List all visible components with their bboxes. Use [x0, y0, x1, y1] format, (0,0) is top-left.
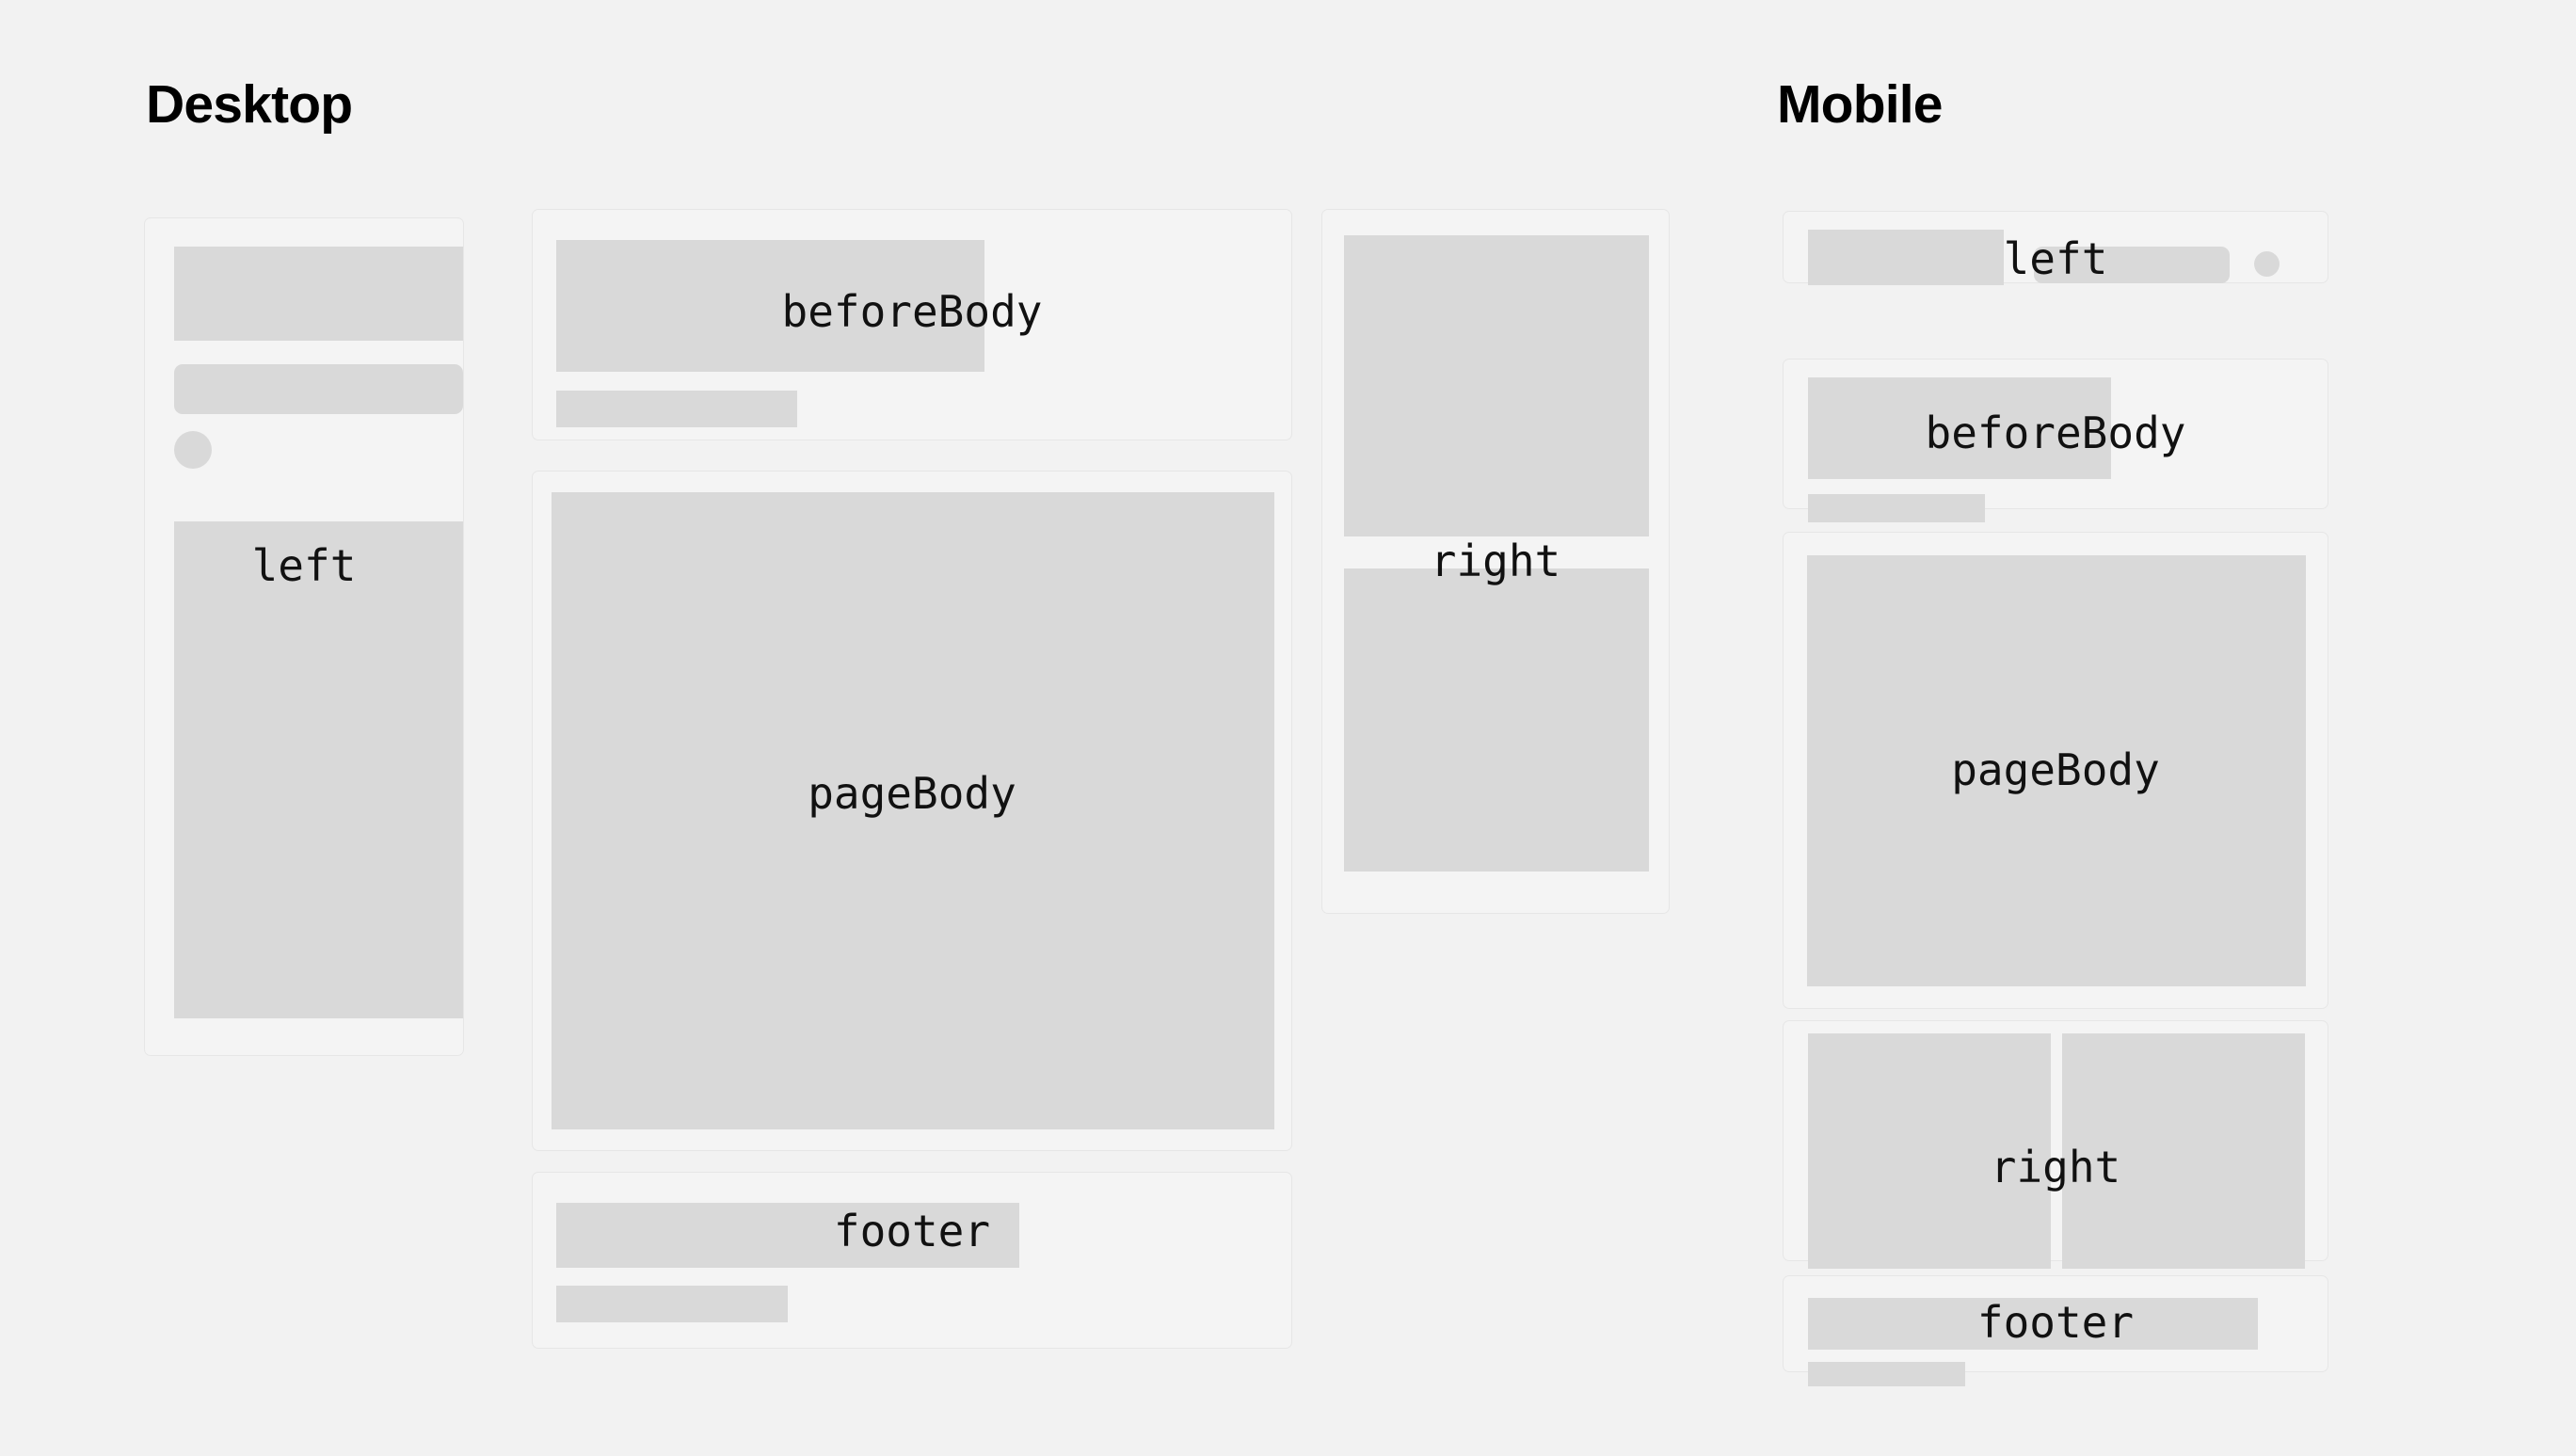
- skeleton-block-small: [1808, 1362, 1965, 1386]
- skeleton-block-bar: [174, 364, 463, 414]
- skeleton-block-tall: [174, 521, 463, 1018]
- skeleton-block-header: [1808, 230, 2004, 285]
- skeleton-circle-avatar: [2254, 251, 2280, 277]
- mobile-left-region-card[interactable]: [1783, 211, 2328, 283]
- mobile-pagebody-region-card[interactable]: [1783, 532, 2328, 1009]
- desktop-beforebody-region-card[interactable]: [532, 209, 1292, 440]
- skeleton-block-small: [1808, 494, 1985, 522]
- skeleton-block-small: [556, 391, 797, 427]
- skeleton-block-content: [552, 492, 1274, 1129]
- mobile-heading: Mobile: [1777, 78, 1943, 132]
- skeleton-block-lower: [1344, 568, 1649, 872]
- skeleton-block-header: [174, 247, 463, 341]
- skeleton-block-small: [556, 1286, 788, 1322]
- desktop-heading: Desktop: [146, 78, 352, 132]
- skeleton-block-left-column: [1808, 1033, 2051, 1269]
- skeleton-block-bar: [2034, 247, 2230, 283]
- layout-preview-canvas: Desktop left beforeBody pageBody footer …: [0, 0, 2576, 1456]
- skeleton-block-large: [556, 1203, 1019, 1268]
- mobile-footer-region-card[interactable]: [1783, 1275, 2328, 1372]
- desktop-left-region-card[interactable]: [144, 217, 464, 1056]
- mobile-right-region-card[interactable]: [1783, 1020, 2328, 1261]
- skeleton-circle-avatar: [174, 431, 212, 469]
- desktop-pagebody-region-card[interactable]: [532, 471, 1292, 1151]
- skeleton-block-content: [1807, 555, 2306, 986]
- skeleton-block-large: [556, 240, 984, 372]
- skeleton-block-right-column: [2062, 1033, 2305, 1269]
- skeleton-block-large: [1808, 377, 2111, 479]
- mobile-beforebody-region-card[interactable]: [1783, 359, 2328, 509]
- desktop-right-region-card[interactable]: [1321, 209, 1670, 914]
- desktop-footer-region-card[interactable]: [532, 1172, 1292, 1349]
- skeleton-block-large: [1808, 1298, 2258, 1350]
- skeleton-block-upper: [1344, 235, 1649, 536]
